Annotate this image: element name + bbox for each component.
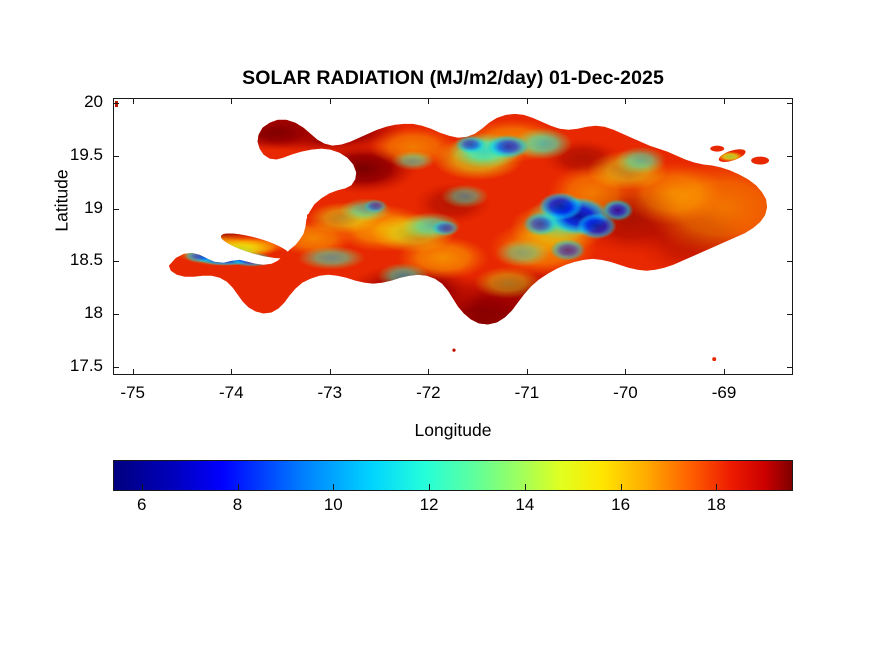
x-tick-mark (428, 369, 429, 375)
x-tick-label: -73 (295, 383, 365, 403)
colorbar-tick-label: 10 (303, 495, 363, 515)
x-tick-mark-top (625, 98, 626, 104)
y-tick-label: 20 (33, 92, 103, 112)
x-tick-label: -72 (393, 383, 463, 403)
y-tick-mark-right (787, 261, 793, 262)
x-tick-label: -71 (492, 383, 562, 403)
x-tick-mark-top (527, 98, 528, 104)
x-tick-label: -75 (98, 383, 168, 403)
map-axes (113, 98, 793, 375)
x-tick-mark-top (231, 98, 232, 104)
y-tick-label: 19.5 (33, 145, 103, 165)
y-tick-mark (113, 156, 119, 157)
y-tick-label: 19 (33, 198, 103, 218)
y-tick-mark (113, 261, 119, 262)
y-tick-mark (113, 209, 119, 210)
colorbar-tick-mark (716, 484, 717, 490)
y-tick-mark-right (787, 209, 793, 210)
colorbar-tick-label: 6 (112, 495, 172, 515)
x-axis-label: Longitude (113, 420, 793, 441)
y-tick-mark (113, 103, 119, 104)
x-tick-mark (625, 369, 626, 375)
colorbar-gradient (113, 460, 793, 491)
colorbar-tick-label: 14 (495, 495, 555, 515)
x-tick-label: -70 (590, 383, 660, 403)
y-tick-mark-right (787, 367, 793, 368)
y-tick-label: 18 (33, 303, 103, 323)
y-tick-mark-right (787, 103, 793, 104)
colorbar-tick-mark (429, 484, 430, 490)
colorbar-tick-mark (142, 484, 143, 490)
y-tick-mark (113, 367, 119, 368)
x-tick-mark-top (428, 98, 429, 104)
x-tick-mark (330, 369, 331, 375)
colorbar-tick-mark (333, 484, 334, 490)
colorbar[interactable] (113, 460, 793, 491)
solar-radiation-heatmap (114, 99, 792, 374)
colorbar-tick-mark (238, 484, 239, 490)
x-tick-mark (231, 369, 232, 375)
matlab-figure: SOLAR RADIATION (MJ/m2/day) 01-Dec-2025 (0, 0, 875, 656)
colorbar-tick-label: 12 (399, 495, 459, 515)
page-title: SOLAR RADIATION (MJ/m2/day) 01-Dec-2025 (113, 67, 793, 90)
x-tick-mark (527, 369, 528, 375)
x-tick-mark-top (133, 98, 134, 104)
colorbar-tick-label: 16 (591, 495, 651, 515)
x-tick-label: -69 (689, 383, 759, 403)
y-tick-mark (113, 314, 119, 315)
colorbar-tick-label: 18 (686, 495, 746, 515)
x-tick-mark (133, 369, 134, 375)
y-tick-label: 17.5 (33, 356, 103, 376)
y-tick-mark-right (787, 314, 793, 315)
x-tick-mark-top (330, 98, 331, 104)
y-tick-label: 18.5 (33, 250, 103, 270)
colorbar-tick-label: 8 (208, 495, 268, 515)
x-tick-label: -74 (196, 383, 266, 403)
x-tick-mark (724, 369, 725, 375)
colorbar-tick-mark (621, 484, 622, 490)
colorbar-tick-mark (525, 484, 526, 490)
y-tick-mark-right (787, 156, 793, 157)
x-tick-mark-top (724, 98, 725, 104)
